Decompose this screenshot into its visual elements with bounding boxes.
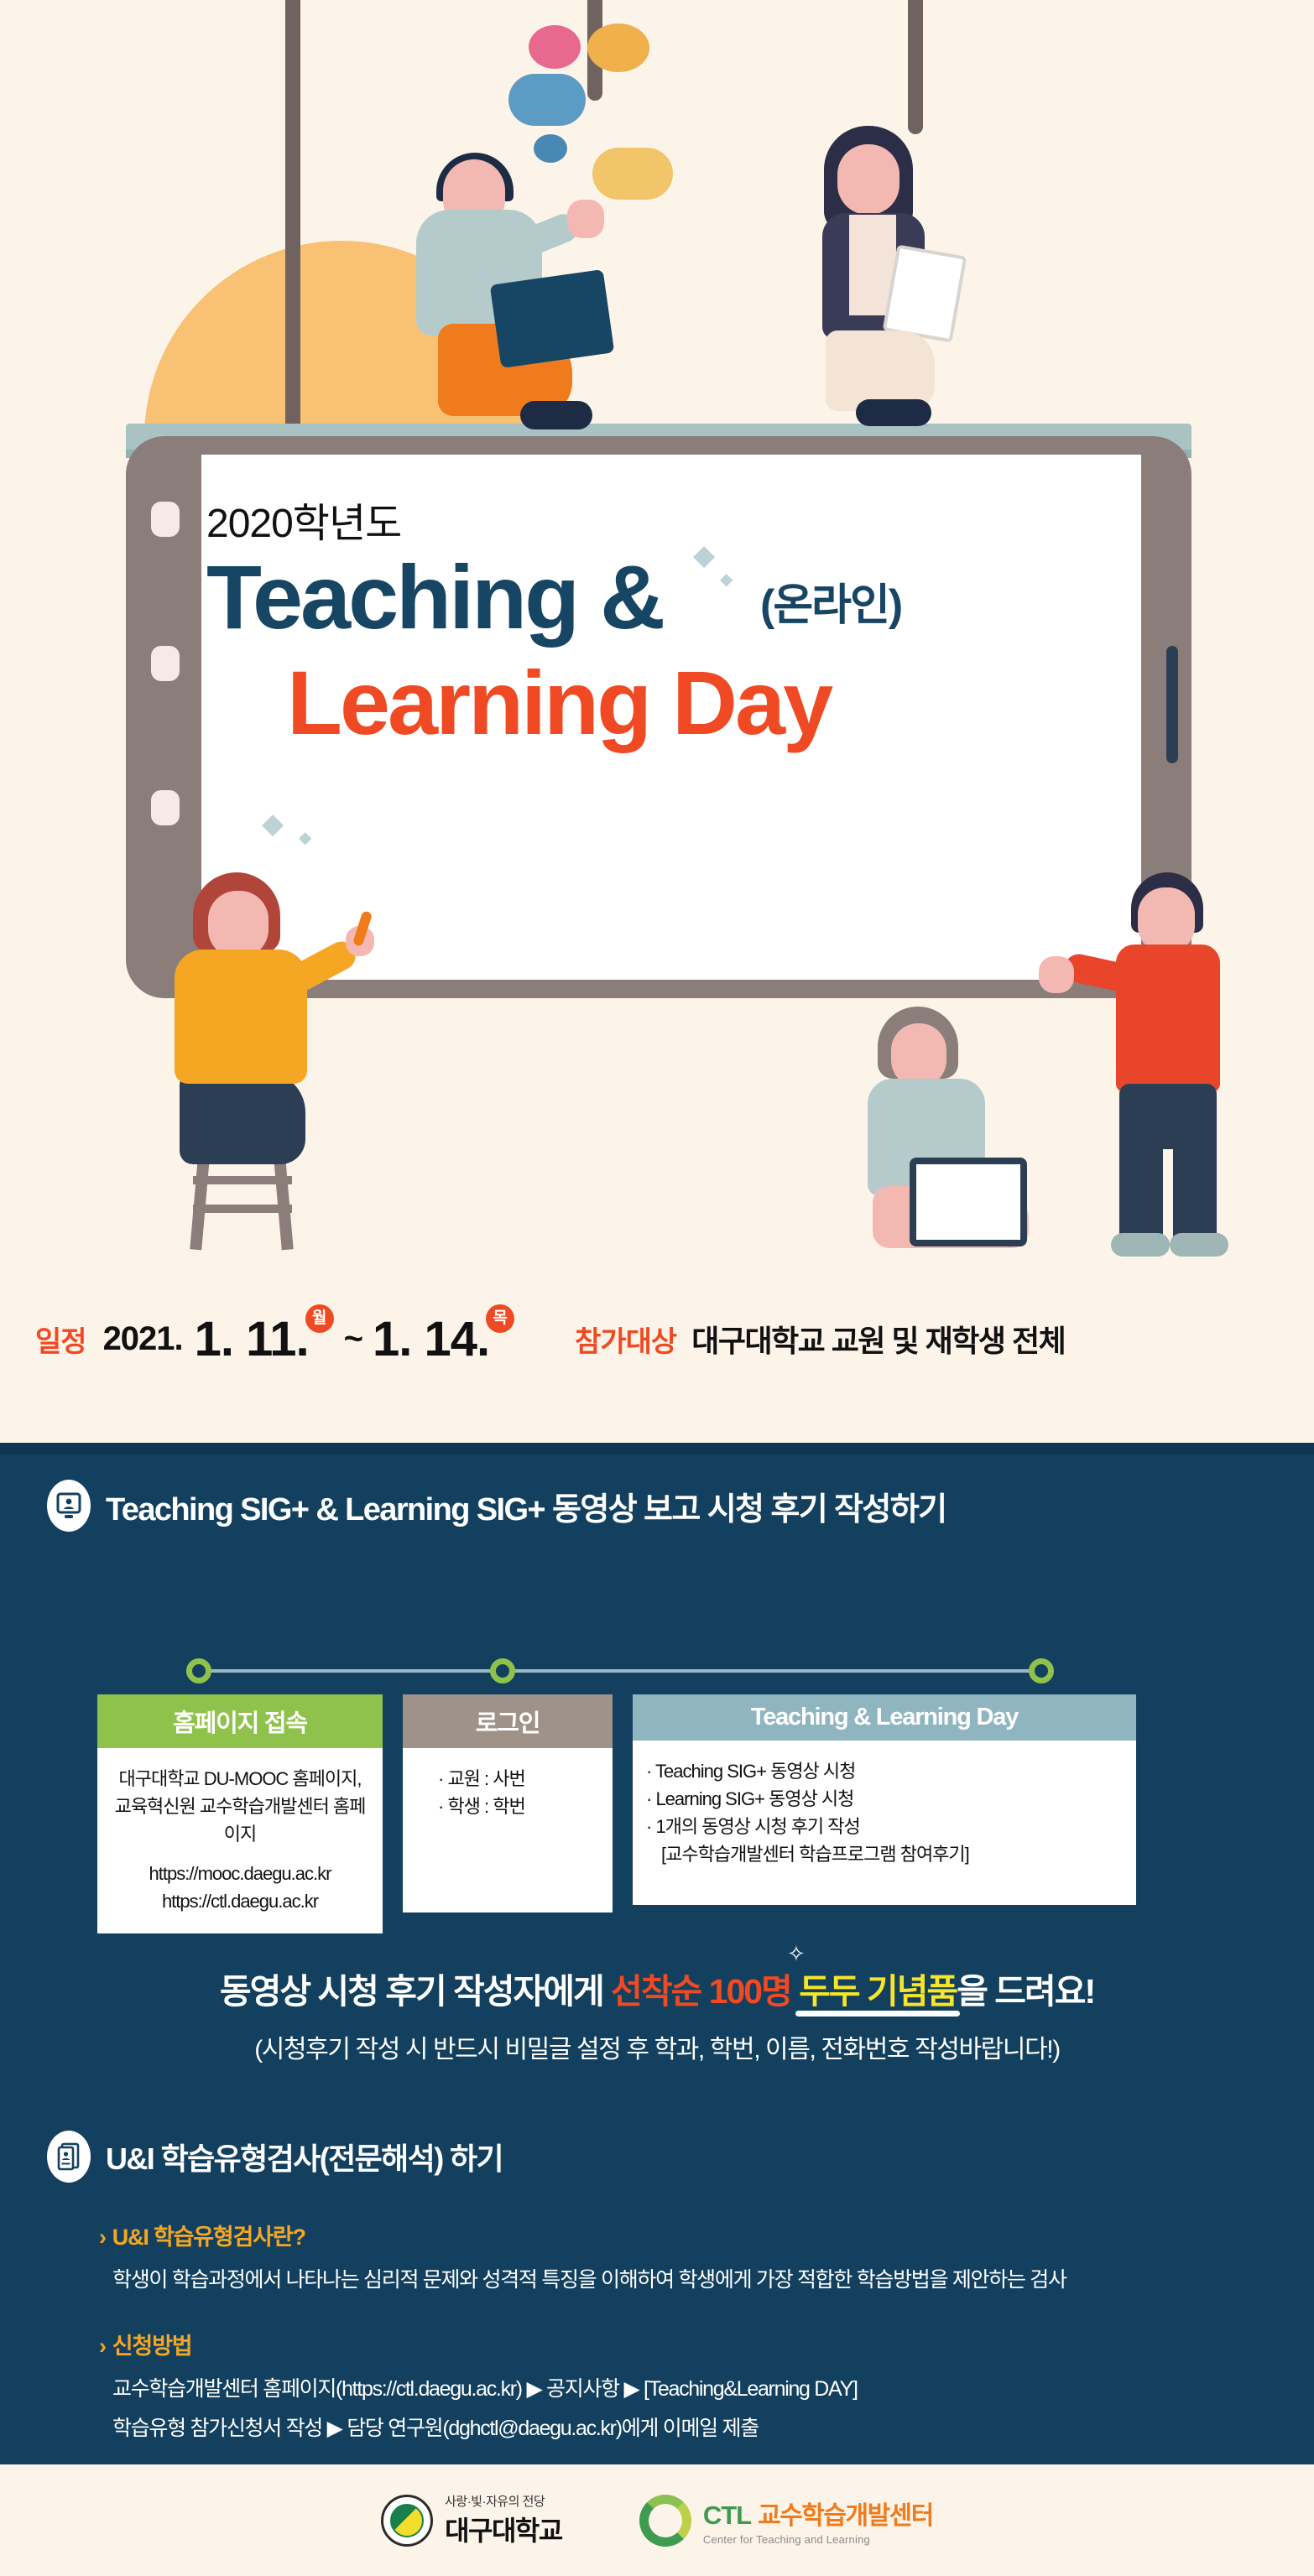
promo-part2: 을 드려요! <box>957 1972 1094 2011</box>
step-card-2: 로그인 · 교원 : 사번 · 학생 : 학번 <box>403 1694 613 1912</box>
section2-block-1: ›U&I 학습유형검사란? 학생이 학습과정에서 나타나는 심리적 문제와 성격… <box>99 2219 1066 2298</box>
schedule-start-date: 1. 11. <box>195 1311 309 1367</box>
step-3-line-2: · Learning SIG+ 동영상 시청 <box>646 1785 1123 1813</box>
promo-part1: 동영상 시청 후기 작성자에게 <box>220 1972 611 2011</box>
step-3-line-4: [교수학습개발센터 학습프로그램 참여후기] <box>646 1840 1123 1868</box>
step-1-line-1: 대구대학교 DU-MOOC 홈페이지, <box>111 1765 369 1793</box>
hero-year-label: 2020학년도 <box>206 503 1079 545</box>
step-2-body: · 교원 : 사번 · 학생 : 학번 <box>403 1748 613 1912</box>
section2-block-2-line-2: 학습유형 참가신청서 작성 ▶ 담당 연구원(dghctl@daegu.ac.k… <box>99 2412 858 2446</box>
section2-block-1-title: ›U&I 학습유형검사란? <box>99 2219 1066 2251</box>
steps-container: 홈페이지 접속 대구대학교 DU-MOOC 홈페이지, 교육혁신원 교수학습개발… <box>97 1694 1136 1933</box>
timeline-dot-2 <box>490 1658 515 1684</box>
timeline-line <box>186 1669 1040 1673</box>
ctl-ring-icon <box>639 2495 691 2547</box>
step-1-url-1[interactable]: https://mooc.daegu.ac.kr <box>111 1860 369 1887</box>
step-3-title: Teaching & Learning Day <box>633 1694 1136 1741</box>
footer-logos: 사랑·빛·자유의 전당 대구대학교 CTL 교수학습개발센터 Center fo… <box>0 2464 1314 2576</box>
sparkle-icon-4: ◆ <box>299 827 311 848</box>
university-name: 대구대학교 <box>445 2510 562 2548</box>
university-logo: 사랑·빛·자유의 전당 대구대학교 <box>381 2492 562 2548</box>
person-with-tablet <box>839 1007 1057 1275</box>
hero-title-online-tag: (온라인) <box>760 570 901 632</box>
section1-header: Teaching SIG+ & Learning SIG+ 동영상 보고 시청 … <box>47 1480 946 1532</box>
promo-note: (시청후기 작성 시 반드시 비밀글 설정 후 학과, 학번, 이름, 전화번호… <box>0 2028 1314 2065</box>
promo-block: ✧ 동영상 시청 후기 작성자에게 선착순 100명 두두 기념품을 드려요! … <box>0 1963 1314 2065</box>
step-3-line-3: · 1개의 동영상 시청 후기 작성 <box>646 1813 1123 1840</box>
schedule-tilde: ~ <box>344 1320 362 1358</box>
ctl-name: 교수학습개발센터 <box>758 2495 933 2532</box>
person-with-clipboard <box>797 126 990 436</box>
ctl-english-name: Center for Teaching and Learning <box>703 2533 933 2546</box>
schedule-end-date: 1. 14. <box>373 1311 489 1367</box>
step-1-url-2[interactable]: https://ctl.daegu.ac.kr <box>111 1887 369 1915</box>
section2-block-1-text: 학생이 학습과정에서 나타나는 심리적 문제와 성격적 특징을 이해하여 학생에… <box>99 2263 1066 2298</box>
speech-bubble-blue <box>508 74 586 126</box>
timeline-dot-1 <box>186 1658 211 1684</box>
schedule-end-weekday-badge: 목 <box>486 1304 514 1333</box>
sparkle-burst-icon: ✧ <box>787 1941 804 1967</box>
step-1-title: 홈페이지 접속 <box>97 1694 383 1748</box>
hero-title-line2: Learning Day <box>206 658 1079 748</box>
sparkle-icon-3: ◆ <box>262 807 284 840</box>
step-card-3: Teaching & Learning Day · Teaching SIG+ … <box>633 1694 1136 1905</box>
section2-block-2-title: ›신청방법 <box>99 2328 858 2360</box>
university-tagline: 사랑·빛·자유의 전당 <box>445 2492 562 2510</box>
promo-highlight-yellow: 두두 기념품 <box>799 1972 957 2011</box>
timeline-dot-3 <box>1029 1658 1054 1684</box>
section2-block-2: ›신청방법 교수학습개발센터 홈페이지(https://ctl.daegu.ac… <box>99 2328 858 2447</box>
step-1-body: 대구대학교 DU-MOOC 홈페이지, 교육혁신원 교수학습개발센터 홈페이지 … <box>97 1748 383 1933</box>
step-2-line-1: · 교원 : 사번 <box>438 1765 599 1793</box>
poster: 2020학년도 ◆ ◆ Teaching & (온라인) ◆ ◆ Learnin… <box>0 0 1314 2576</box>
university-seal-icon <box>381 2495 433 2547</box>
sparkle-icon-1: ◆ <box>693 539 715 572</box>
step-2-line-2: · 학생 : 학번 <box>438 1793 599 1820</box>
person-screen-icon <box>47 1480 91 1532</box>
section2-block-2-line-1: 교수학습개발센터 홈페이지(https://ctl.daegu.ac.kr) ▶… <box>99 2372 858 2407</box>
person-with-laptop <box>394 159 604 436</box>
step-3-line-1: · Teaching SIG+ 동영상 시청 <box>646 1757 1123 1785</box>
document-card-icon <box>47 2131 91 2183</box>
ctl-logo: CTL 교수학습개발센터 Center for Teaching and Lea… <box>639 2495 933 2547</box>
hero-title-block: 2020학년도 ◆ ◆ Teaching & (온라인) ◆ ◆ Learnin… <box>206 503 1079 748</box>
schedule-start-weekday-badge: 월 <box>305 1304 334 1333</box>
ctl-abbreviation: CTL <box>703 2501 751 2531</box>
sparkle-icon-2: ◆ <box>720 569 733 590</box>
step-2-title: 로그인 <box>403 1694 613 1748</box>
promo-headline: ✧ 동영상 시청 후기 작성자에게 선착순 100명 두두 기념품을 드려요! <box>0 1963 1314 2013</box>
schedule-year: 2021. <box>103 1320 183 1358</box>
navy-content-section: Teaching SIG+ & Learning SIG+ 동영상 보고 시청 … <box>0 1443 1314 2464</box>
person-writing-on-stool <box>159 872 411 1250</box>
target-label: 참가대상 <box>575 1319 676 1360</box>
step-card-1: 홈페이지 접속 대구대학교 DU-MOOC 홈페이지, 교육혁신원 교수학습개발… <box>97 1694 383 1933</box>
person-standing-pointing <box>1082 872 1259 1267</box>
promo-highlight-orange: 선착순 100명 <box>611 1972 791 2011</box>
swing-rod-right <box>908 0 923 134</box>
chevron-right-icon-2: › <box>99 2334 106 2359</box>
schedule-label: 일정 <box>35 1319 86 1360</box>
speech-bubble-pink <box>529 25 581 69</box>
speech-bubble-small-blue <box>534 134 567 163</box>
target-value: 대구대학교 교원 및 재학생 전체 <box>691 1317 1065 1361</box>
speech-bubble-yellow <box>592 148 673 200</box>
navy-top-divider <box>0 1443 1314 1455</box>
section2-block-2-label: 신청방법 <box>112 2334 192 2359</box>
section2-title: U&I 학습유형검사(전문해석) 하기 <box>106 2135 503 2178</box>
section2-block-1-label: U&I 학습유형검사란? <box>112 2225 305 2250</box>
section1-title: Teaching SIG+ & Learning SIG+ 동영상 보고 시청 … <box>106 1483 946 1529</box>
speech-bubble-amber <box>587 23 649 72</box>
step-1-line-2: 교육혁신원 교수학습개발센터 홈페이지 <box>111 1793 369 1848</box>
schedule-row: 일정 2021. 1. 11. 월 ~ 1. 14. 목 참가대상 대구대학교 … <box>0 1305 1314 1372</box>
chevron-right-icon-1: › <box>99 2225 106 2250</box>
hero-illustration-panel: 2020학년도 ◆ ◆ Teaching & (온라인) ◆ ◆ Learnin… <box>0 0 1314 1468</box>
section2-header: U&I 학습유형검사(전문해석) 하기 <box>47 2131 503 2183</box>
step-3-body: · Teaching SIG+ 동영상 시청 · Learning SIG+ 동… <box>633 1741 1136 1905</box>
hero-title-line1: Teaching & <box>206 552 663 643</box>
